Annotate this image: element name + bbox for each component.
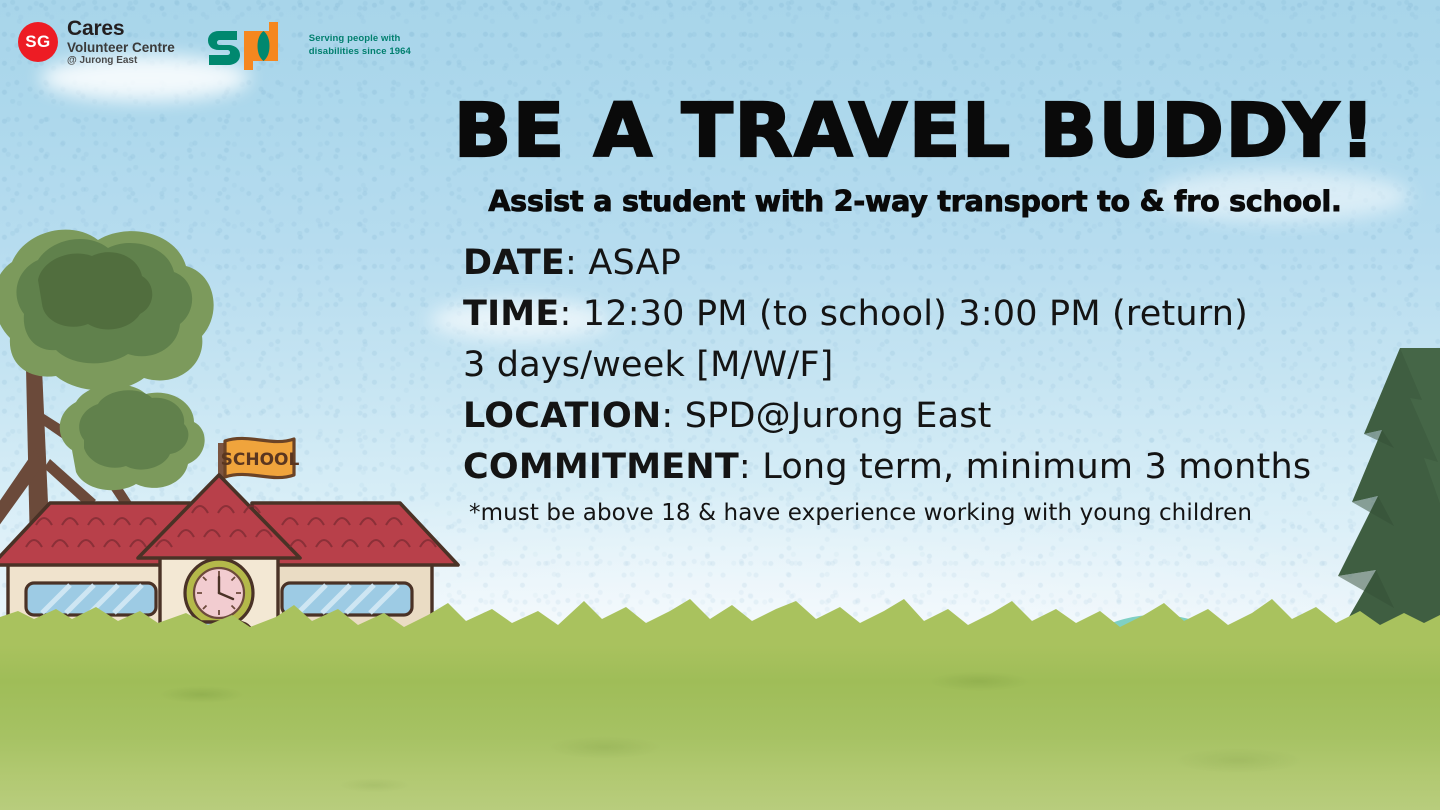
spd-logo: Serving people with disabilities since 1… bbox=[207, 22, 411, 70]
grass-ground bbox=[0, 645, 1440, 810]
headline: BE A TRAVEL BUDDY! bbox=[446, 96, 1384, 166]
detail-value: 3 days/week [M/W/F] bbox=[463, 345, 834, 385]
sg-badge-icon: SG bbox=[18, 22, 58, 62]
spd-wordmark-icon bbox=[207, 22, 299, 70]
sg-cares-line1: Cares bbox=[67, 18, 175, 40]
detail-label: LOCATION bbox=[463, 396, 661, 436]
spd-tagline: Serving people with disabilities since 1… bbox=[309, 33, 411, 59]
subheadline: Assist a student with 2-way transport to… bbox=[455, 186, 1375, 217]
detail-value: 12:30 PM (to school) 3:00 PM (return) bbox=[583, 294, 1248, 334]
detail-row-commitment: COMMITMENT: Long term, minimum 3 months bbox=[463, 442, 1323, 493]
sg-cares-logo: SG Cares Volunteer Centre @ Jurong East bbox=[18, 18, 175, 67]
detail-separator: : bbox=[565, 243, 588, 283]
spd-tagline-line2: disabilities since 1964 bbox=[309, 46, 411, 59]
detail-value: SPD@Jurong East bbox=[685, 396, 992, 436]
detail-separator: : bbox=[661, 396, 684, 436]
detail-row-date: DATE: ASAP bbox=[463, 238, 1323, 289]
grass-edge bbox=[0, 599, 1440, 645]
sg-cares-line2: Volunteer Centre bbox=[67, 41, 175, 55]
detail-label: TIME bbox=[463, 294, 559, 334]
detail-separator: : bbox=[559, 294, 582, 334]
sg-cares-wordmark: Cares Volunteer Centre @ Jurong East bbox=[67, 18, 175, 67]
detail-label: COMMITMENT bbox=[463, 447, 739, 487]
detail-row-frequency: 3 days/week [M/W/F] bbox=[463, 340, 1323, 391]
detail-value: Long term, minimum 3 months bbox=[762, 447, 1311, 487]
detail-separator: : bbox=[739, 447, 762, 487]
spd-tagline-line1: Serving people with bbox=[309, 33, 411, 46]
grass-texture bbox=[0, 645, 1440, 810]
logo-bar: SG Cares Volunteer Centre @ Jurong East … bbox=[18, 18, 411, 70]
detail-label: DATE bbox=[463, 243, 565, 283]
sg-cares-line3: @ Jurong East bbox=[67, 56, 175, 67]
detail-row-location: LOCATION: SPD@Jurong East bbox=[463, 391, 1323, 442]
details-block: DATE: ASAP TIME: 12:30 PM (to school) 3:… bbox=[463, 238, 1323, 529]
footnote: *must be above 18 & have experience work… bbox=[469, 499, 1323, 529]
detail-row-time: TIME: 12:30 PM (to school) 3:00 PM (retu… bbox=[463, 289, 1323, 340]
poster-canvas: SG Cares Volunteer Centre @ Jurong East … bbox=[0, 0, 1440, 810]
sg-badge-label: SG bbox=[25, 32, 51, 52]
detail-value: ASAP bbox=[588, 243, 681, 283]
